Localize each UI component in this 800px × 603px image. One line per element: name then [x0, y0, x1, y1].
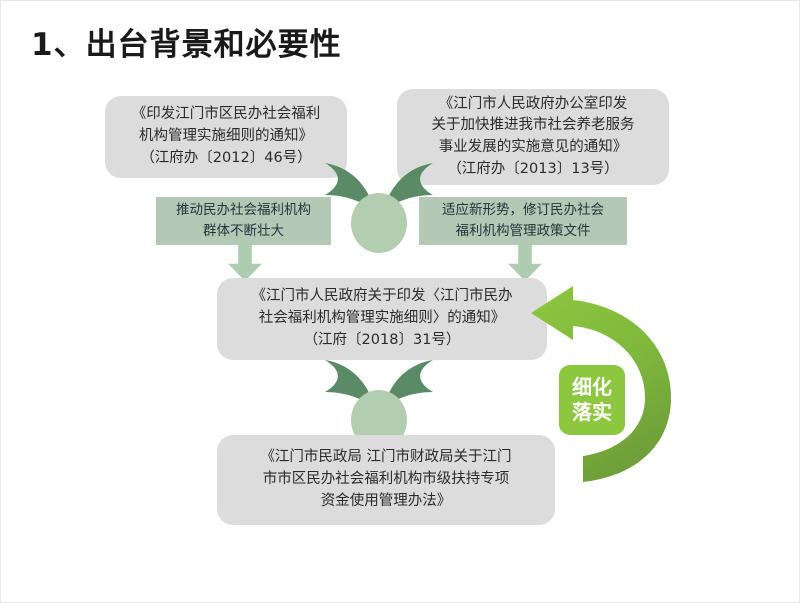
document-box-fund-line2: 市市区民办社会福利机构市级扶持专项 — [227, 469, 545, 491]
document-box-2012-line2: 机构管理实施细则的通知》 — [115, 126, 337, 148]
reason-label-left: 推动民办社会福利机构 群体不断壮大 — [156, 197, 331, 245]
refine-label: 细化 落实 — [559, 365, 625, 435]
reason-label-left-text: 推动民办社会福利机构 群体不断壮大 — [164, 200, 323, 242]
refine-label-line1: 细化 — [572, 375, 612, 400]
page-title: 1、出台背景和必要性 — [31, 19, 342, 64]
document-box-fund-line3: 资金使用管理办法》 — [227, 491, 545, 513]
document-box-2013-line1: 《江门市人民政府办公室印发 — [407, 94, 659, 116]
document-box-fund: 《江门市民政局 江门市财政局关于江门 市市区民办社会福利机构市级扶持专项 资金使… — [217, 435, 555, 525]
merge-circle-icon — [351, 193, 407, 253]
document-box-2018-text: 《江门市人民政府关于印发〈江门市民办 社会福利机构管理实施细则〉的通知》 （江府… — [227, 286, 537, 351]
reason-label-right-line1: 适应新形势，修订民办社会 — [427, 200, 619, 221]
slide-canvas: 1、出台背景和必要性 《印发江门市区民办社会福利 机构管理实施细则的通知》 （江… — [0, 0, 800, 603]
reason-label-left-line2: 群体不断壮大 — [164, 221, 323, 242]
document-box-2013-line3: 事业发展的实施意见的通知》 — [407, 137, 659, 159]
reason-label-left-line1: 推动民办社会福利机构 — [164, 200, 323, 221]
document-box-2012-line3: （江府办〔2012〕46号） — [115, 148, 337, 170]
reason-label-right-line2: 福利机构管理政策文件 — [427, 221, 619, 242]
down-arrow-right-icon — [508, 245, 542, 281]
document-box-2012-text: 《印发江门市区民办社会福利 机构管理实施细则的通知》 （江府办〔2012〕46号… — [115, 104, 337, 169]
document-box-fund-text: 《江门市民政局 江门市财政局关于江门 市市区民办社会福利机构市级扶持专项 资金使… — [227, 447, 545, 512]
document-box-2012-line1: 《印发江门市区民办社会福利 — [115, 104, 337, 126]
reason-label-right: 适应新形势，修订民办社会 福利机构管理政策文件 — [419, 197, 627, 245]
document-box-2018-line1: 《江门市人民政府关于印发〈江门市民办 — [227, 286, 537, 308]
document-box-fund-line1: 《江门市民政局 江门市财政局关于江门 — [227, 447, 545, 469]
document-box-2018-line3: （江府〔2018〕31号） — [227, 330, 537, 352]
refine-label-line2: 落实 — [572, 400, 612, 425]
document-box-2012: 《印发江门市区民办社会福利 机构管理实施细则的通知》 （江府办〔2012〕46号… — [105, 96, 347, 178]
document-box-2018-line2: 社会福利机构管理实施细则〉的通知》 — [227, 308, 537, 330]
document-box-2018: 《江门市人民政府关于印发〈江门市民办 社会福利机构管理实施细则〉的通知》 （江府… — [217, 278, 547, 360]
document-box-2013-text: 《江门市人民政府办公室印发 关于加快推进我市社会养老服务 事业发展的实施意见的通… — [407, 94, 659, 181]
document-box-2013-line4: （江府办〔2013〕13号） — [407, 159, 659, 181]
down-arrow-left-icon — [228, 245, 262, 281]
reason-label-right-text: 适应新形势，修订民办社会 福利机构管理政策文件 — [427, 200, 619, 242]
document-box-2013-line2: 关于加快推进我市社会养老服务 — [407, 115, 659, 137]
